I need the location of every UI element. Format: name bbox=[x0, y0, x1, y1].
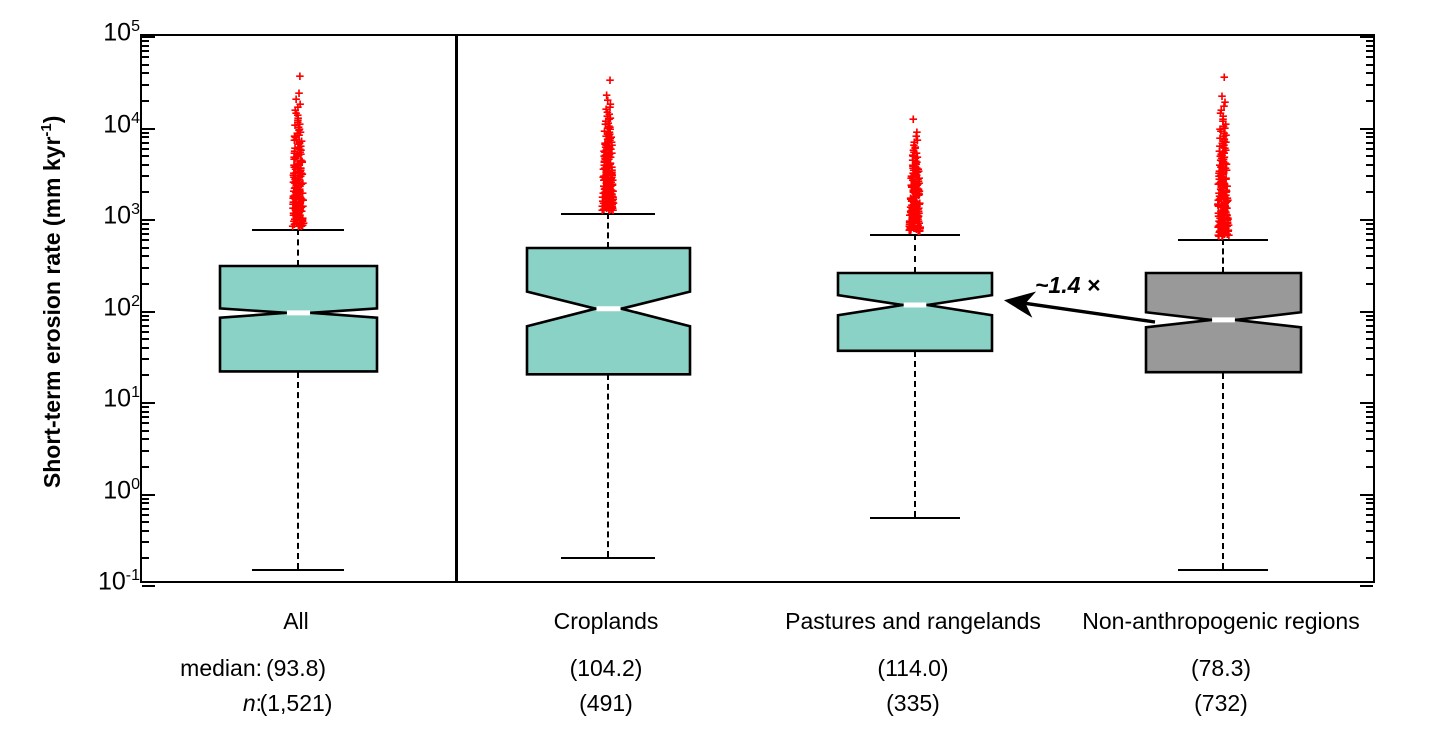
median-value-2: (104.2) bbox=[456, 655, 756, 682]
y-tick-label-1: 101 bbox=[103, 385, 140, 411]
n-value-4: (732) bbox=[1071, 690, 1371, 717]
y-axis-title-exponent: -1 bbox=[38, 123, 55, 136]
n-value-2: (491) bbox=[456, 690, 756, 717]
y-tick-label-4: 104 bbox=[103, 111, 140, 137]
lower-whisker-line bbox=[1222, 373, 1224, 569]
plot-area: ++++++++++++++++++++++++++++++++++++++++… bbox=[140, 34, 1375, 583]
y-tick-label-5: 105 bbox=[103, 19, 140, 45]
outlier-marker: + bbox=[1213, 233, 1225, 240]
ratio-annotation-arrow bbox=[995, 285, 1165, 355]
box-upper-half bbox=[1146, 273, 1301, 320]
outlier-marker: + bbox=[1218, 74, 1230, 81]
lower-whisker-cap bbox=[1178, 569, 1268, 571]
outlier-cluster: ++++++++++++++++++++++++++++++++++++++++… bbox=[1211, 74, 1235, 245]
category-label-4: Non-anthropogenic regions bbox=[1021, 608, 1421, 635]
chart-figure: Short-term erosion rate (mm kyr-1) 10510… bbox=[0, 0, 1434, 746]
box-plot-4[interactable]: ++++++++++++++++++++++++++++++++++++++++… bbox=[142, 36, 1373, 581]
y-major-tick bbox=[142, 585, 155, 587]
y-tick-label--1: 10-1 bbox=[98, 568, 140, 594]
n-value-3: (335) bbox=[763, 690, 1063, 717]
n-value-1: (1,521) bbox=[146, 690, 446, 717]
box-lower-half bbox=[1146, 320, 1301, 372]
y-tick-label-0: 100 bbox=[103, 477, 140, 503]
median-value-3: (114.0) bbox=[763, 655, 1063, 682]
y-tick-label-2: 102 bbox=[103, 294, 140, 320]
median-value-4: (78.3) bbox=[1071, 655, 1371, 682]
y-axis-title-text: Short-term erosion rate (mm kyr bbox=[39, 137, 65, 488]
y-axis-title: Short-term erosion rate (mm kyr-1) bbox=[38, 2, 66, 602]
y-tick-label-3: 103 bbox=[103, 202, 140, 228]
box-body[interactable] bbox=[1143, 270, 1304, 375]
y-axis-title-close: ) bbox=[39, 116, 65, 124]
y-major-tick-right bbox=[1360, 585, 1373, 587]
median-value-1: (93.8) bbox=[146, 655, 446, 682]
